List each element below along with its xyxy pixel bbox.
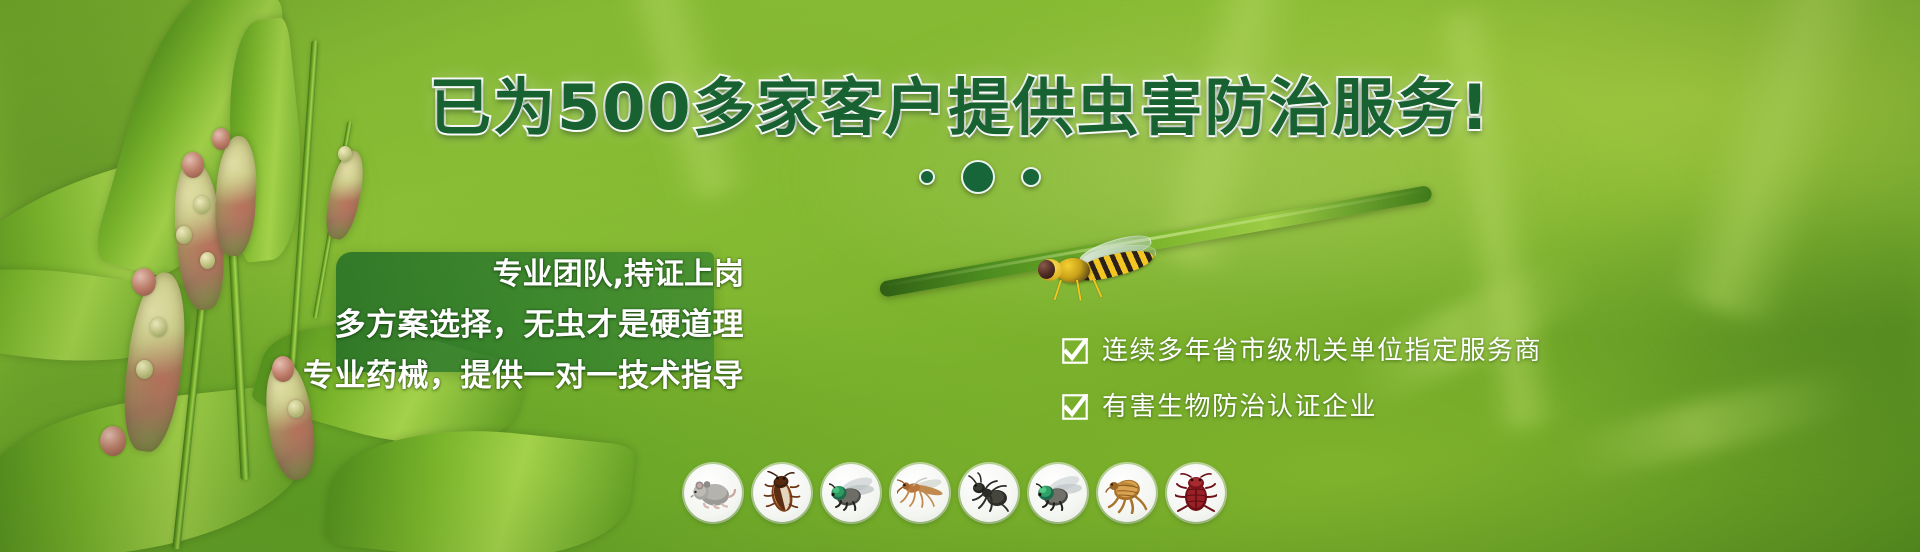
certification-item: 连续多年省市级机关单位指定服务商 bbox=[1062, 336, 1542, 366]
promo-text-block: 专业团队,持证上岗 多方案选择，无虫才是硬道理 专业药械，提供一对一技术指导 bbox=[336, 256, 756, 396]
promo-line-3: 专业药械，提供一对一技术指导 bbox=[303, 356, 744, 396]
promotional-banner: 已为500多家客户提供虫害防治服务! 专业团队,持证上岗 多方案选择，无虫才是硬… bbox=[0, 0, 1920, 552]
decorative-dots bbox=[0, 160, 1920, 194]
housefly-icon bbox=[827, 473, 875, 513]
mosquito-icon bbox=[897, 473, 943, 513]
hoverfly-leg bbox=[1092, 278, 1102, 298]
ant-icon bbox=[968, 472, 1010, 514]
promo-line-1: 专业团队,持证上岗 bbox=[493, 256, 744, 294]
pest-icon-circle[interactable] bbox=[1029, 464, 1087, 522]
checkbox-check-icon bbox=[1062, 394, 1088, 420]
promo-line-2: 多方案选择，无虫才是硬道理 bbox=[335, 305, 745, 345]
pest-icon-circle[interactable] bbox=[822, 464, 880, 522]
pest-icon-circle[interactable] bbox=[1167, 464, 1225, 522]
pest-icon-circle[interactable] bbox=[753, 464, 811, 522]
decor-dot-small bbox=[919, 169, 935, 185]
hoverfly-leg bbox=[1054, 280, 1062, 301]
decor-dot-tiny bbox=[1021, 167, 1041, 187]
pest-icon-circle[interactable] bbox=[1098, 464, 1156, 522]
certification-text: 连续多年省市级机关单位指定服务商 bbox=[1102, 336, 1542, 366]
pest-icon-circle[interactable] bbox=[891, 464, 949, 522]
rodent-icon bbox=[690, 473, 736, 513]
cockroach-icon bbox=[761, 471, 803, 515]
flea-icon bbox=[1105, 472, 1149, 514]
certification-text: 有害生物防治认证企业 bbox=[1102, 392, 1377, 422]
hoverfly-photo bbox=[1030, 238, 1160, 300]
pest-icon-circle[interactable] bbox=[960, 464, 1018, 522]
certification-item: 有害生物防治认证企业 bbox=[1062, 392, 1542, 422]
pest-icon-row bbox=[684, 464, 1225, 522]
certification-list: 连续多年省市级机关单位指定服务商 有害生物防治认证企业 bbox=[1062, 336, 1542, 422]
checkbox-check-icon bbox=[1062, 338, 1088, 364]
hoverfly-eye bbox=[1038, 260, 1055, 279]
blowfly-icon bbox=[1034, 473, 1082, 513]
banner-headline: 已为500多家客户提供虫害防治服务! bbox=[0, 72, 1920, 144]
pest-icon-circle[interactable] bbox=[684, 464, 742, 522]
decor-dot-medium bbox=[961, 160, 995, 194]
bedbug-icon bbox=[1175, 471, 1217, 515]
hoverfly-leg bbox=[1076, 280, 1082, 301]
